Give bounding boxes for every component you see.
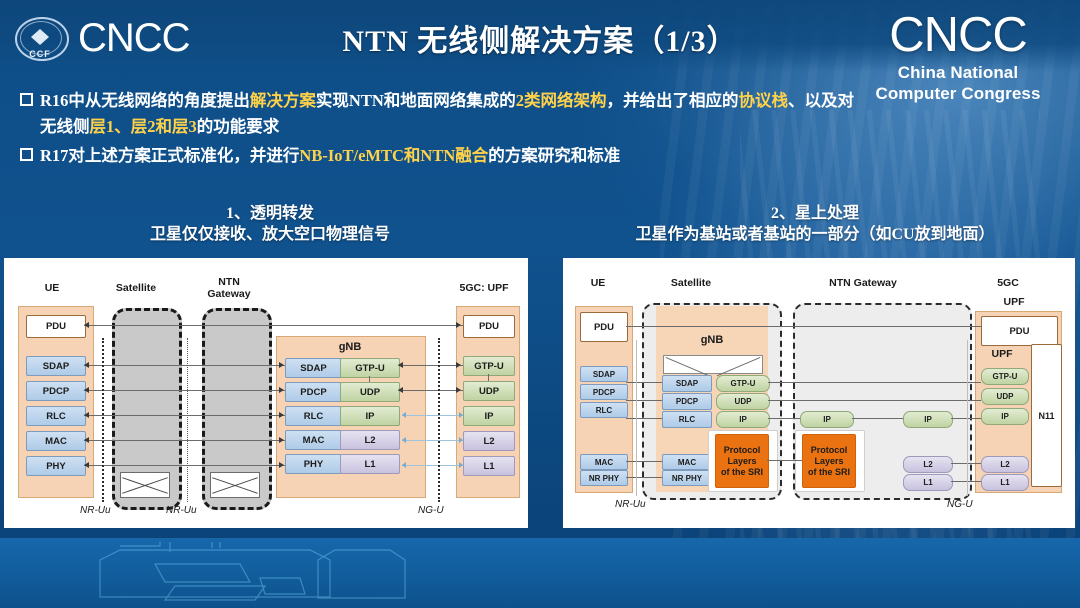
header-ntn-gateway-left: NTN Gateway [189, 276, 269, 300]
gnb-sat-block-pdcp: PDCP [662, 393, 712, 410]
arrow-l2-gnb [402, 437, 406, 443]
bullet-text-2: R17对上述方案正式标准化，并进行NB-IoT/eMTC和NTN融合的方案研究和… [40, 146, 620, 165]
gnb-funnel-icon [663, 355, 763, 374]
upf-block-l1: L1 [463, 456, 515, 476]
bullet-1-run-8: 层1、层2和层3 [90, 117, 197, 136]
line-r-sdap [626, 382, 662, 383]
gnb-label-right: gNB [656, 334, 768, 346]
arrow-ip-upf [459, 412, 463, 418]
ccf-logo-text: CCF [22, 49, 58, 59]
interface-label-nr-uu-2: NR-Uu [166, 505, 197, 516]
gnb-sat-block-mac: MAC [662, 454, 712, 470]
line-r-pdcp [626, 400, 662, 401]
ue-block-sdap-r: SDAP [580, 366, 628, 382]
bullet-text-1: R16中从无线网络的角度提出解决方案实现NTN和地面网络集成的2类网络架构，并给… [40, 91, 854, 136]
arrow-mac-ue [84, 437, 89, 443]
sri-line1: Protocol [724, 445, 761, 456]
line-r-l1 [951, 481, 981, 482]
header-5gc-right: 5GC [963, 277, 1053, 289]
interface-line-ng-u [438, 338, 440, 502]
line-l1 [402, 465, 463, 466]
gateway-block-l1: L1 [903, 474, 953, 491]
upf-block-l2-r: L2 [981, 456, 1029, 473]
interface-line-nr-uu-1 [102, 338, 104, 502]
line-rlc [84, 415, 285, 416]
header-ntn-gateway-left-l2: Gateway [189, 288, 269, 300]
cncc-logo-right: CNCC China National Computer Congress [852, 8, 1064, 104]
bullet-1-run-2: 解决方案 [250, 91, 316, 110]
ntn-gateway-repeater-icon [210, 472, 260, 498]
gateway-block-ip-right: IP [903, 411, 953, 428]
arrow-gtpu-upf [456, 362, 461, 368]
arrow-phy-gnb [279, 462, 284, 468]
arrow-gtpu-gnb [398, 362, 403, 368]
slide-canvas: CCF CNCC NTN 无线侧解决方案（1/3） CNCC China Nat… [0, 0, 1080, 608]
n11-block: N11 [1031, 344, 1062, 487]
line-r-ip-3 [951, 418, 981, 419]
arrow-pdcp-gnb [279, 387, 284, 393]
ue-block-phy: PHY [26, 456, 86, 476]
arrow-udp-upf [456, 387, 461, 393]
cncc-subtitle-line2: Computer Congress [852, 83, 1064, 104]
interface-label-ng-u-right: NG-U [947, 499, 973, 510]
line-r-sri-link [767, 460, 802, 461]
line-l2 [402, 440, 463, 441]
interface-line-nr-uu-right [636, 340, 637, 496]
caption-left-line2: 卫星仅仅接收、放大空口物理信号 [30, 224, 510, 245]
arrow-sdap-ue [84, 362, 89, 368]
upf-block-ip: IP [463, 406, 515, 426]
header-ntn-gateway-right: NTN Gateway [808, 277, 918, 289]
line-gtpu [398, 365, 463, 366]
hollow-square-bullet-icon [20, 93, 33, 106]
header-ue-right: UE [573, 277, 623, 289]
bullet-2-run-1: R17对上述方案正式标准化，并进行 [40, 146, 299, 165]
bullet-2-run-3: 的方案研究和标准 [488, 146, 620, 165]
interface-line-nr-uu-2 [187, 338, 188, 502]
bullet-1-run-5: ，并给出了相应的 [607, 91, 739, 110]
gnb-block-udp: UDP [340, 382, 400, 402]
line-phy [84, 465, 285, 466]
gnb-block-mac: MAC [285, 430, 342, 450]
gnb-block-ip: IP [340, 406, 400, 426]
upf-block-udp: UDP [463, 381, 515, 401]
arrow-l1-upf [459, 462, 463, 468]
arrow-ip-gnb [402, 412, 406, 418]
bullet-1-run-4: 2类网络架构 [516, 91, 607, 110]
sri-block-gateway: Protocol Layers of the SRI [802, 434, 856, 488]
caption-right-line2: 卫星作为基站或者基站的一部分（如CU放到地面） [560, 224, 1070, 245]
bullet-1-run-6: 协议栈 [739, 91, 789, 110]
line-mac [84, 440, 285, 441]
sri-line2: Layers [727, 456, 756, 467]
caption-right-line1: 2、星上处理 [560, 203, 1070, 224]
satellite-repeater-icon [120, 472, 170, 498]
header-satellite-left: Satellite [96, 282, 176, 294]
bullet-1-run-1: R16中从无线网络的角度提出 [40, 91, 250, 110]
line-sdap [84, 365, 285, 366]
bullet-1-run-9: 的功能要求 [197, 117, 280, 136]
cncc-wordmark-left: CNCC [78, 16, 190, 61]
arrow-pdu-to-ue [84, 322, 89, 328]
arrow-rlc-gnb [279, 412, 284, 418]
header-satellite-right: Satellite [651, 277, 731, 289]
interface-label-nr-uu-right: NR-Uu [615, 499, 646, 510]
caption-left: 1、透明转发 卫星仅仅接收、放大空口物理信号 [30, 203, 510, 245]
arrow-udp-gnb [398, 387, 403, 393]
hollow-square-bullet-icon [20, 148, 33, 161]
arrow-l2-upf [459, 437, 463, 443]
gnb-block-l2: L2 [340, 430, 400, 450]
page-title: NTN 无线侧解决方案（1/3） [255, 16, 825, 60]
line-pdcp [84, 390, 285, 391]
arrow-pdu-to-upf [456, 322, 461, 328]
diagram-left-panel: UE Satellite NTN Gateway 5GC: UPF PDU SD… [4, 258, 528, 528]
interface-line-ng-u-right [967, 340, 968, 496]
line-r-udp [768, 400, 981, 401]
line-r-l2 [951, 463, 981, 464]
bullet-item-1: R16中从无线网络的角度提出解决方案实现NTN和地面网络集成的2类网络架构，并给… [18, 88, 858, 140]
line-r-ip-1 [768, 418, 800, 419]
ue-block-pdu: PDU [26, 315, 86, 338]
slide-footer-band [0, 538, 1080, 608]
upf-block-ip-r: IP [981, 408, 1029, 425]
line-gtpu-udp-join-upf [488, 374, 489, 381]
caption-right: 2、星上处理 卫星作为基站或者基站的一部分（如CU放到地面） [560, 203, 1070, 245]
line-r-nrphy [626, 477, 662, 478]
caption-left-line1: 1、透明转发 [30, 203, 510, 224]
upf-block-pdu: PDU [463, 315, 515, 338]
ue-block-mac-r: MAC [580, 454, 628, 470]
ue-block-nrphy-r: NR PHY [580, 470, 628, 486]
arrow-phy-ue [84, 462, 89, 468]
bullet-item-2: R17对上述方案正式标准化，并进行NB-IoT/eMTC和NTN融合的方案研究和… [18, 143, 858, 169]
header-ue-left: UE [22, 282, 82, 294]
ue-block-rlc: RLC [26, 406, 86, 426]
gateway-block-l2: L2 [903, 456, 953, 473]
sri-gw-line1: Protocol [811, 445, 848, 456]
line-pdu-ue-upf [84, 325, 463, 326]
interface-label-nr-uu-1: NR-Uu [80, 505, 111, 516]
ue-block-pdcp-r: PDCP [580, 384, 628, 400]
line-r-pdu [626, 326, 981, 327]
line-gtpu-udp-join [369, 376, 370, 382]
ue-block-sdap: SDAP [26, 356, 86, 376]
interface-label-ng-u: NG-U [418, 505, 444, 516]
upf-block-udp-r: UDP [981, 388, 1029, 405]
slide-header: CCF CNCC NTN 无线侧解决方案（1/3） CNCC China Nat… [0, 0, 1080, 72]
ue-block-rlc-r: RLC [580, 402, 628, 418]
gnb-sat-block-sdap: SDAP [662, 375, 712, 392]
line-r-ip-2 [852, 418, 903, 419]
line-ip [402, 415, 463, 416]
gnb-sat-block-gtpu: GTP-U [716, 375, 770, 392]
gnb-block-phy: PHY [285, 454, 342, 474]
gnb-block-gtpu: GTP-U [340, 358, 400, 378]
ue-block-pdcp: PDCP [26, 381, 86, 401]
gnb-label-left: gNB [276, 341, 424, 353]
sri-gw-line2: Layers [814, 456, 843, 467]
upf-block-gtpu-r: GTP-U [981, 368, 1029, 385]
line-udp [398, 390, 463, 391]
bullet-list: R16中从无线网络的角度提出解决方案实现NTN和地面网络集成的2类网络架构，并给… [18, 88, 858, 172]
gnb-sat-block-rlc: RLC [662, 411, 712, 428]
line-r-mac [626, 461, 662, 462]
line-r-rlc [626, 418, 662, 419]
arrow-sdap-gnb [279, 362, 284, 368]
upf-block-pdu-r: PDU [981, 316, 1058, 346]
gnb-block-pdcp: PDCP [285, 382, 342, 402]
ue-block-pdu-r: PDU [580, 312, 628, 342]
label-upf-inner: UPF [977, 348, 1027, 360]
sri-line3: of the SRI [721, 467, 763, 478]
gnb-block-sdap: SDAP [285, 358, 342, 378]
bullet-1-run-3: 实现NTN和地面网络集成的 [316, 91, 516, 110]
sri-block-satellite: Protocol Layers of the SRI [715, 434, 769, 488]
label-upf-outer: UPF [969, 296, 1059, 308]
gnb-sat-block-nrphy: NR PHY [662, 470, 712, 486]
cncc-subtitle-line1: China National [852, 62, 1064, 83]
footer-decorative-artwork [60, 542, 680, 608]
gnb-block-rlc: RLC [285, 406, 342, 426]
arrow-rlc-ue [84, 412, 89, 418]
header-5gc-upf-left: 5GC: UPF [444, 282, 524, 294]
ue-block-mac: MAC [26, 431, 86, 451]
bullet-2-run-2: NB-IoT/eMTC和NTN融合 [299, 146, 488, 165]
upf-block-l2: L2 [463, 431, 515, 451]
header-ntn-gateway-left-l1: NTN [189, 276, 269, 288]
arrow-l1-gnb [402, 462, 406, 468]
diagram-right-panel: UE Satellite NTN Gateway 5GC UPF PDU SDA… [563, 258, 1075, 528]
arrow-pdcp-ue [84, 387, 89, 393]
gnb-sat-block-udp: UDP [716, 393, 770, 410]
upf-block-gtpu: GTP-U [463, 356, 515, 376]
cncc-wordmark-right: CNCC [852, 8, 1064, 62]
arrow-mac-gnb [279, 437, 284, 443]
upf-block-l1-r: L1 [981, 474, 1029, 491]
gnb-block-l1: L1 [340, 454, 400, 474]
gnb-sat-block-ip: IP [716, 411, 770, 428]
sri-gw-line3: of the SRI [808, 467, 850, 478]
gateway-block-ip-left: IP [800, 411, 854, 428]
ccf-logo-icon: CCF [12, 13, 70, 63]
line-r-gtpu [768, 382, 981, 383]
